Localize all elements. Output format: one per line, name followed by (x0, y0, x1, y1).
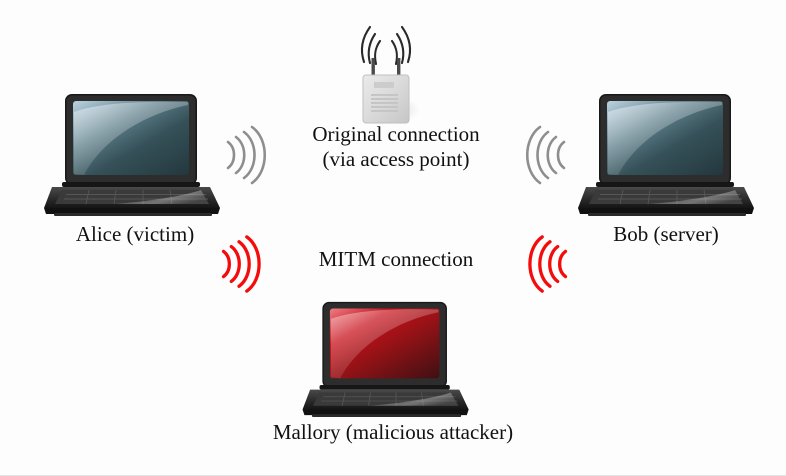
signal-alice-to-ap (214, 124, 276, 186)
laptop-blue-icon (44, 92, 224, 217)
signal-alice-to-mallory (210, 234, 270, 294)
diagram-canvas: Alice (victim) (0, 0, 786, 476)
wifi-waves-icon (516, 124, 578, 186)
original-connection-label: Original connection (via access point) (286, 122, 506, 172)
laptop-blue-icon (578, 92, 758, 217)
wireless-access-point-icon (330, 18, 442, 128)
wifi-waves-icon (214, 124, 276, 186)
original-connection-line1: Original connection (312, 122, 479, 146)
original-connection-line2: (via access point) (286, 147, 506, 172)
signal-mallory-to-bob (519, 234, 579, 294)
laptop-red-icon (295, 300, 480, 418)
bob-laptop-node[interactable] (578, 92, 758, 217)
mallory-laptop-node[interactable] (295, 300, 480, 418)
access-point-node[interactable] (330, 18, 442, 128)
mallory-label: Mallory (malicious attacker) (243, 420, 543, 445)
wifi-waves-icon (519, 234, 579, 294)
signal-ap-to-bob (516, 124, 578, 186)
wifi-waves-icon (210, 234, 270, 294)
mitm-connection-label: MITM connection (286, 247, 506, 272)
alice-laptop-node[interactable] (44, 92, 224, 217)
